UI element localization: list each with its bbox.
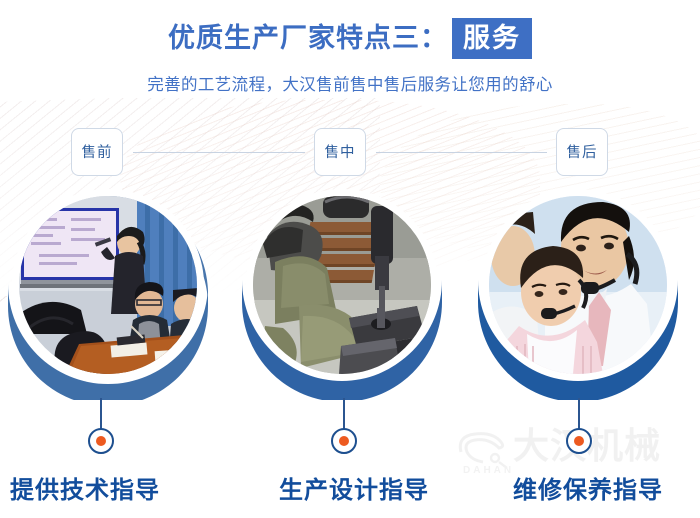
step-circle-3 [472, 188, 684, 400]
step-photo-3 [489, 196, 667, 374]
step-caption-1: 提供技术指导 [10, 470, 160, 505]
step-circle-1 [2, 188, 214, 400]
connector-stem-3 [578, 398, 580, 432]
page-title: 优质生产厂家特点三： 服务 [0, 18, 700, 58]
step-badge-row: 售前 售中 售后 [0, 128, 700, 176]
page-title-text: 优质生产厂家特点三： [168, 18, 448, 58]
dahan-logo-icon [455, 428, 511, 470]
step-caption-3: 维修保养指导 [513, 470, 663, 505]
step-photo-1 [19, 196, 197, 374]
promo-banner: 优质生产厂家特点三： 服务 完善的工艺流程，大汉售前售中售后服务让您用的舒心 售… [0, 0, 700, 518]
connector-line-2 [376, 152, 547, 153]
step-badge-during-sale[interactable]: 售中 [314, 128, 366, 176]
connector-stem-2 [343, 398, 345, 432]
connector-stem-1 [100, 398, 102, 432]
orange-dot-marker-icon-1 [88, 428, 114, 454]
page-subtitle: 完善的工艺流程，大汉售前售中售后服务让您用的舒心 [0, 71, 700, 95]
orange-dot-marker-icon-3 [566, 428, 592, 454]
step-circle-2 [236, 188, 448, 400]
step-caption-2: 生产设计指导 [279, 470, 429, 505]
watermark-pinyin: DAHAN [463, 465, 514, 476]
step-badge-pre-sale[interactable]: 售前 [71, 128, 123, 176]
orange-dot-marker-icon-2 [331, 428, 357, 454]
page-title-highlight: 服务 [452, 18, 532, 59]
header: 优质生产厂家特点三： 服务 完善的工艺流程，大汉售前售中售后服务让您用的舒心 [0, 0, 700, 95]
step-badge-after-sale[interactable]: 售后 [556, 128, 608, 176]
connector-line-1 [133, 152, 305, 153]
step-photo-2 [253, 196, 431, 374]
